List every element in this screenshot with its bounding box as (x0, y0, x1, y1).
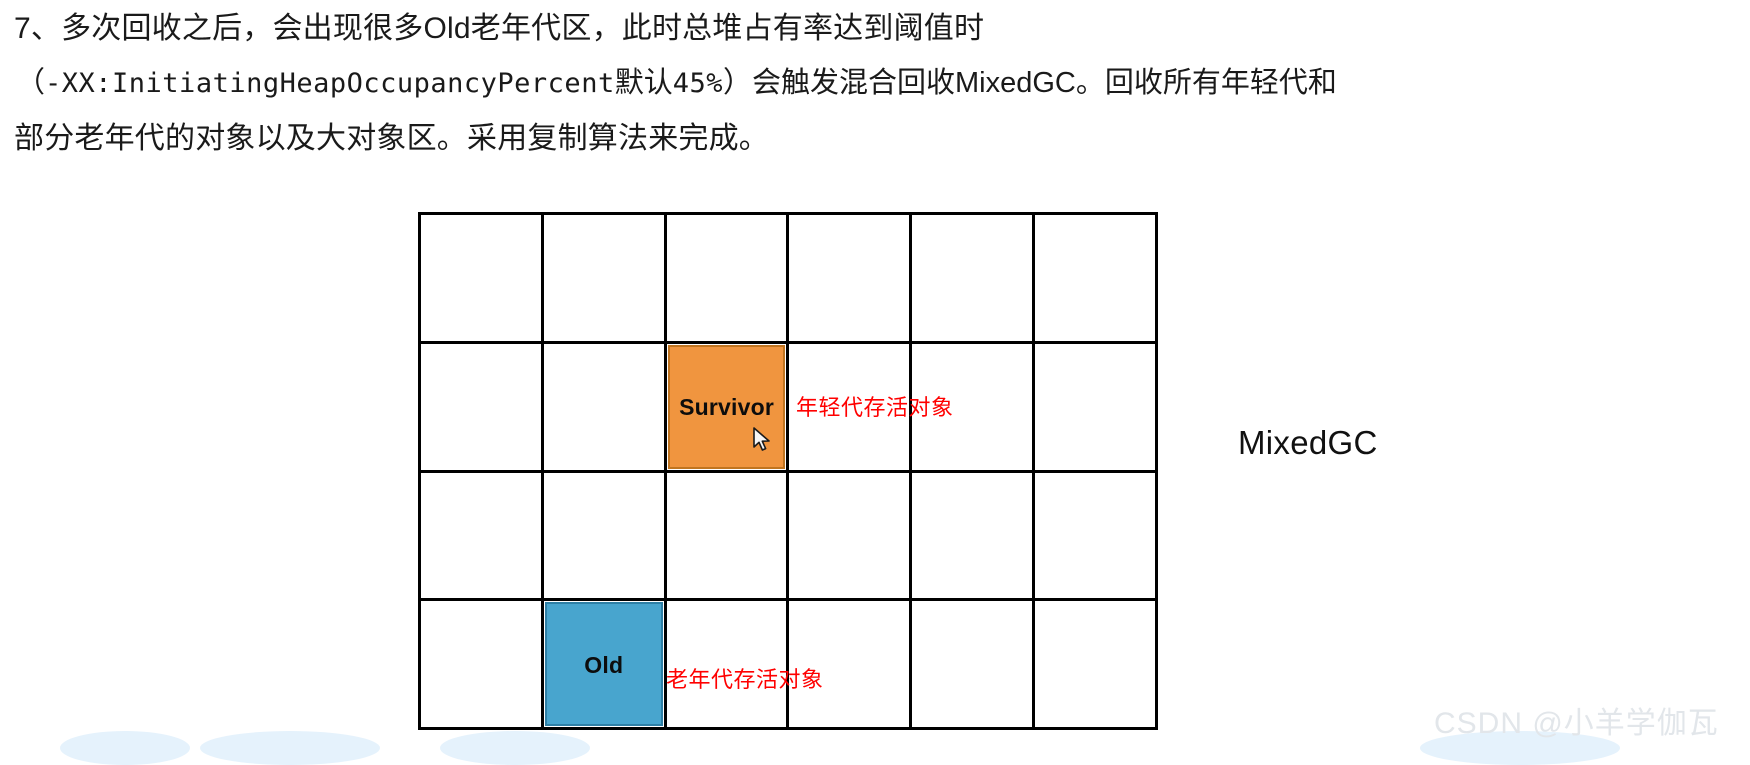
young-survivor-annotation: 年轻代存活对象 (796, 390, 954, 422)
text-line-2-prefix: （ (16, 67, 45, 99)
region-cell-r2c0[interactable] (420, 471, 543, 600)
region-cell-r3c0[interactable] (420, 600, 543, 729)
csdn-watermark: CSDN @小羊学伽瓦 (1434, 698, 1719, 742)
mixed-gc-label: MixedGC (1238, 424, 1378, 462)
region-cell-r3c4[interactable] (911, 600, 1034, 729)
heap-region-table: Survivor Old (418, 212, 1158, 730)
region-cell-r0c1[interactable] (542, 214, 665, 343)
region-cell-r2c1[interactable] (542, 471, 665, 600)
old-region-fill: Old (545, 602, 663, 726)
region-cell-r2c4[interactable] (911, 471, 1034, 600)
text-line-1: 7、多次回收之后，会出现很多Old老年代区，此时总堆占有率达到阈值时 (14, 8, 984, 50)
table-row (420, 471, 1157, 600)
text-line-2-mid: 默认 (615, 67, 673, 99)
region-cell-r0c3[interactable] (788, 214, 911, 343)
survivor-region-label: Survivor (679, 394, 774, 421)
region-cell-r1c1[interactable] (542, 342, 665, 471)
decorative-blob (60, 731, 190, 765)
region-cell-r1c0[interactable] (420, 342, 543, 471)
text-line-2: （-XX:InitiatingHeapOccupancyPercent默认45%… (16, 62, 1337, 105)
region-cell-r2c3[interactable] (788, 471, 911, 600)
jvm-flag-default-value: 45% (673, 68, 723, 99)
old-region-label: Old (584, 652, 623, 679)
region-cell-r0c4[interactable] (911, 214, 1034, 343)
text-line-3: 部分老年代的对象以及大对象区。采用复制算法来完成。 (14, 118, 769, 160)
jvm-flag-name: -XX:InitiatingHeapOccupancyPercent (45, 68, 615, 99)
table-row (420, 214, 1157, 343)
region-cell-r0c5[interactable] (1034, 214, 1157, 343)
old-survivor-annotation: 老年代存活对象 (666, 662, 824, 694)
heap-region-grid: Survivor Old (418, 212, 1158, 730)
region-cell-r3c5[interactable] (1034, 600, 1157, 729)
table-row: Survivor (420, 342, 1157, 471)
survivor-region-fill: Survivor (668, 345, 786, 469)
region-cell-survivor[interactable]: Survivor (665, 342, 788, 471)
region-cell-old[interactable]: Old (542, 600, 665, 729)
decorative-blob (440, 731, 590, 765)
region-cell-r0c2[interactable] (665, 214, 788, 343)
decorative-blob (200, 731, 380, 765)
region-cell-r2c5[interactable] (1034, 471, 1157, 600)
region-cell-r0c0[interactable] (420, 214, 543, 343)
region-cell-r1c5[interactable] (1034, 342, 1157, 471)
region-cell-r2c2[interactable] (665, 471, 788, 600)
text-line-2-suffix: ）会触发混合回收MixedGC。回收所有年轻代和 (723, 67, 1337, 99)
